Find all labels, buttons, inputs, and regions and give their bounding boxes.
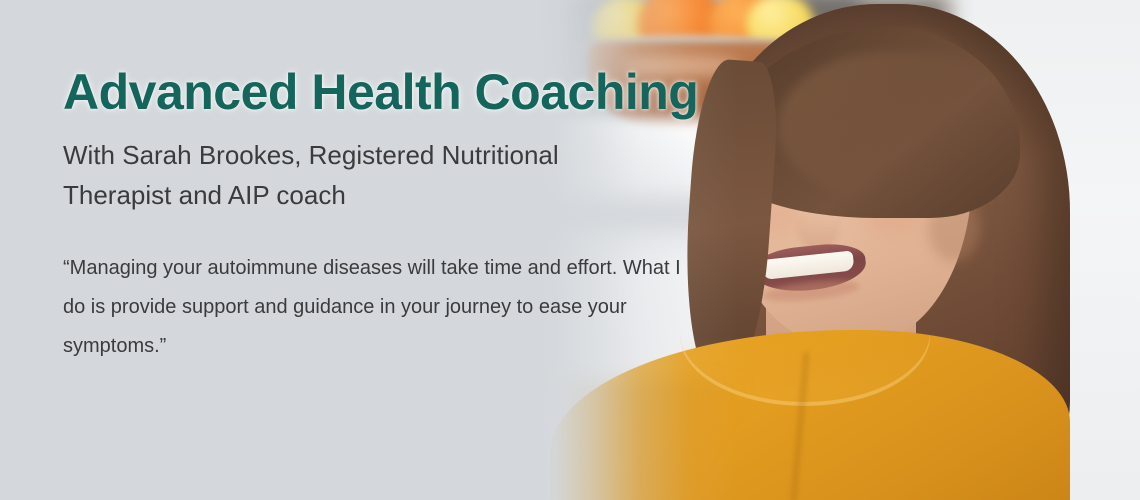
page-title: Advanced Health Coaching xyxy=(63,66,698,119)
hair-fringe-highlight xyxy=(778,52,998,202)
testimonial-quote: “Managing your autoimmune diseases will … xyxy=(63,249,708,366)
hero-banner: Advanced Health Coaching With Sarah Broo… xyxy=(0,0,1140,500)
teeth xyxy=(761,250,855,280)
banner-content: Advanced Health Coaching With Sarah Broo… xyxy=(0,0,720,500)
subtitle: With Sarah Brookes, Registered Nutrition… xyxy=(63,135,663,216)
